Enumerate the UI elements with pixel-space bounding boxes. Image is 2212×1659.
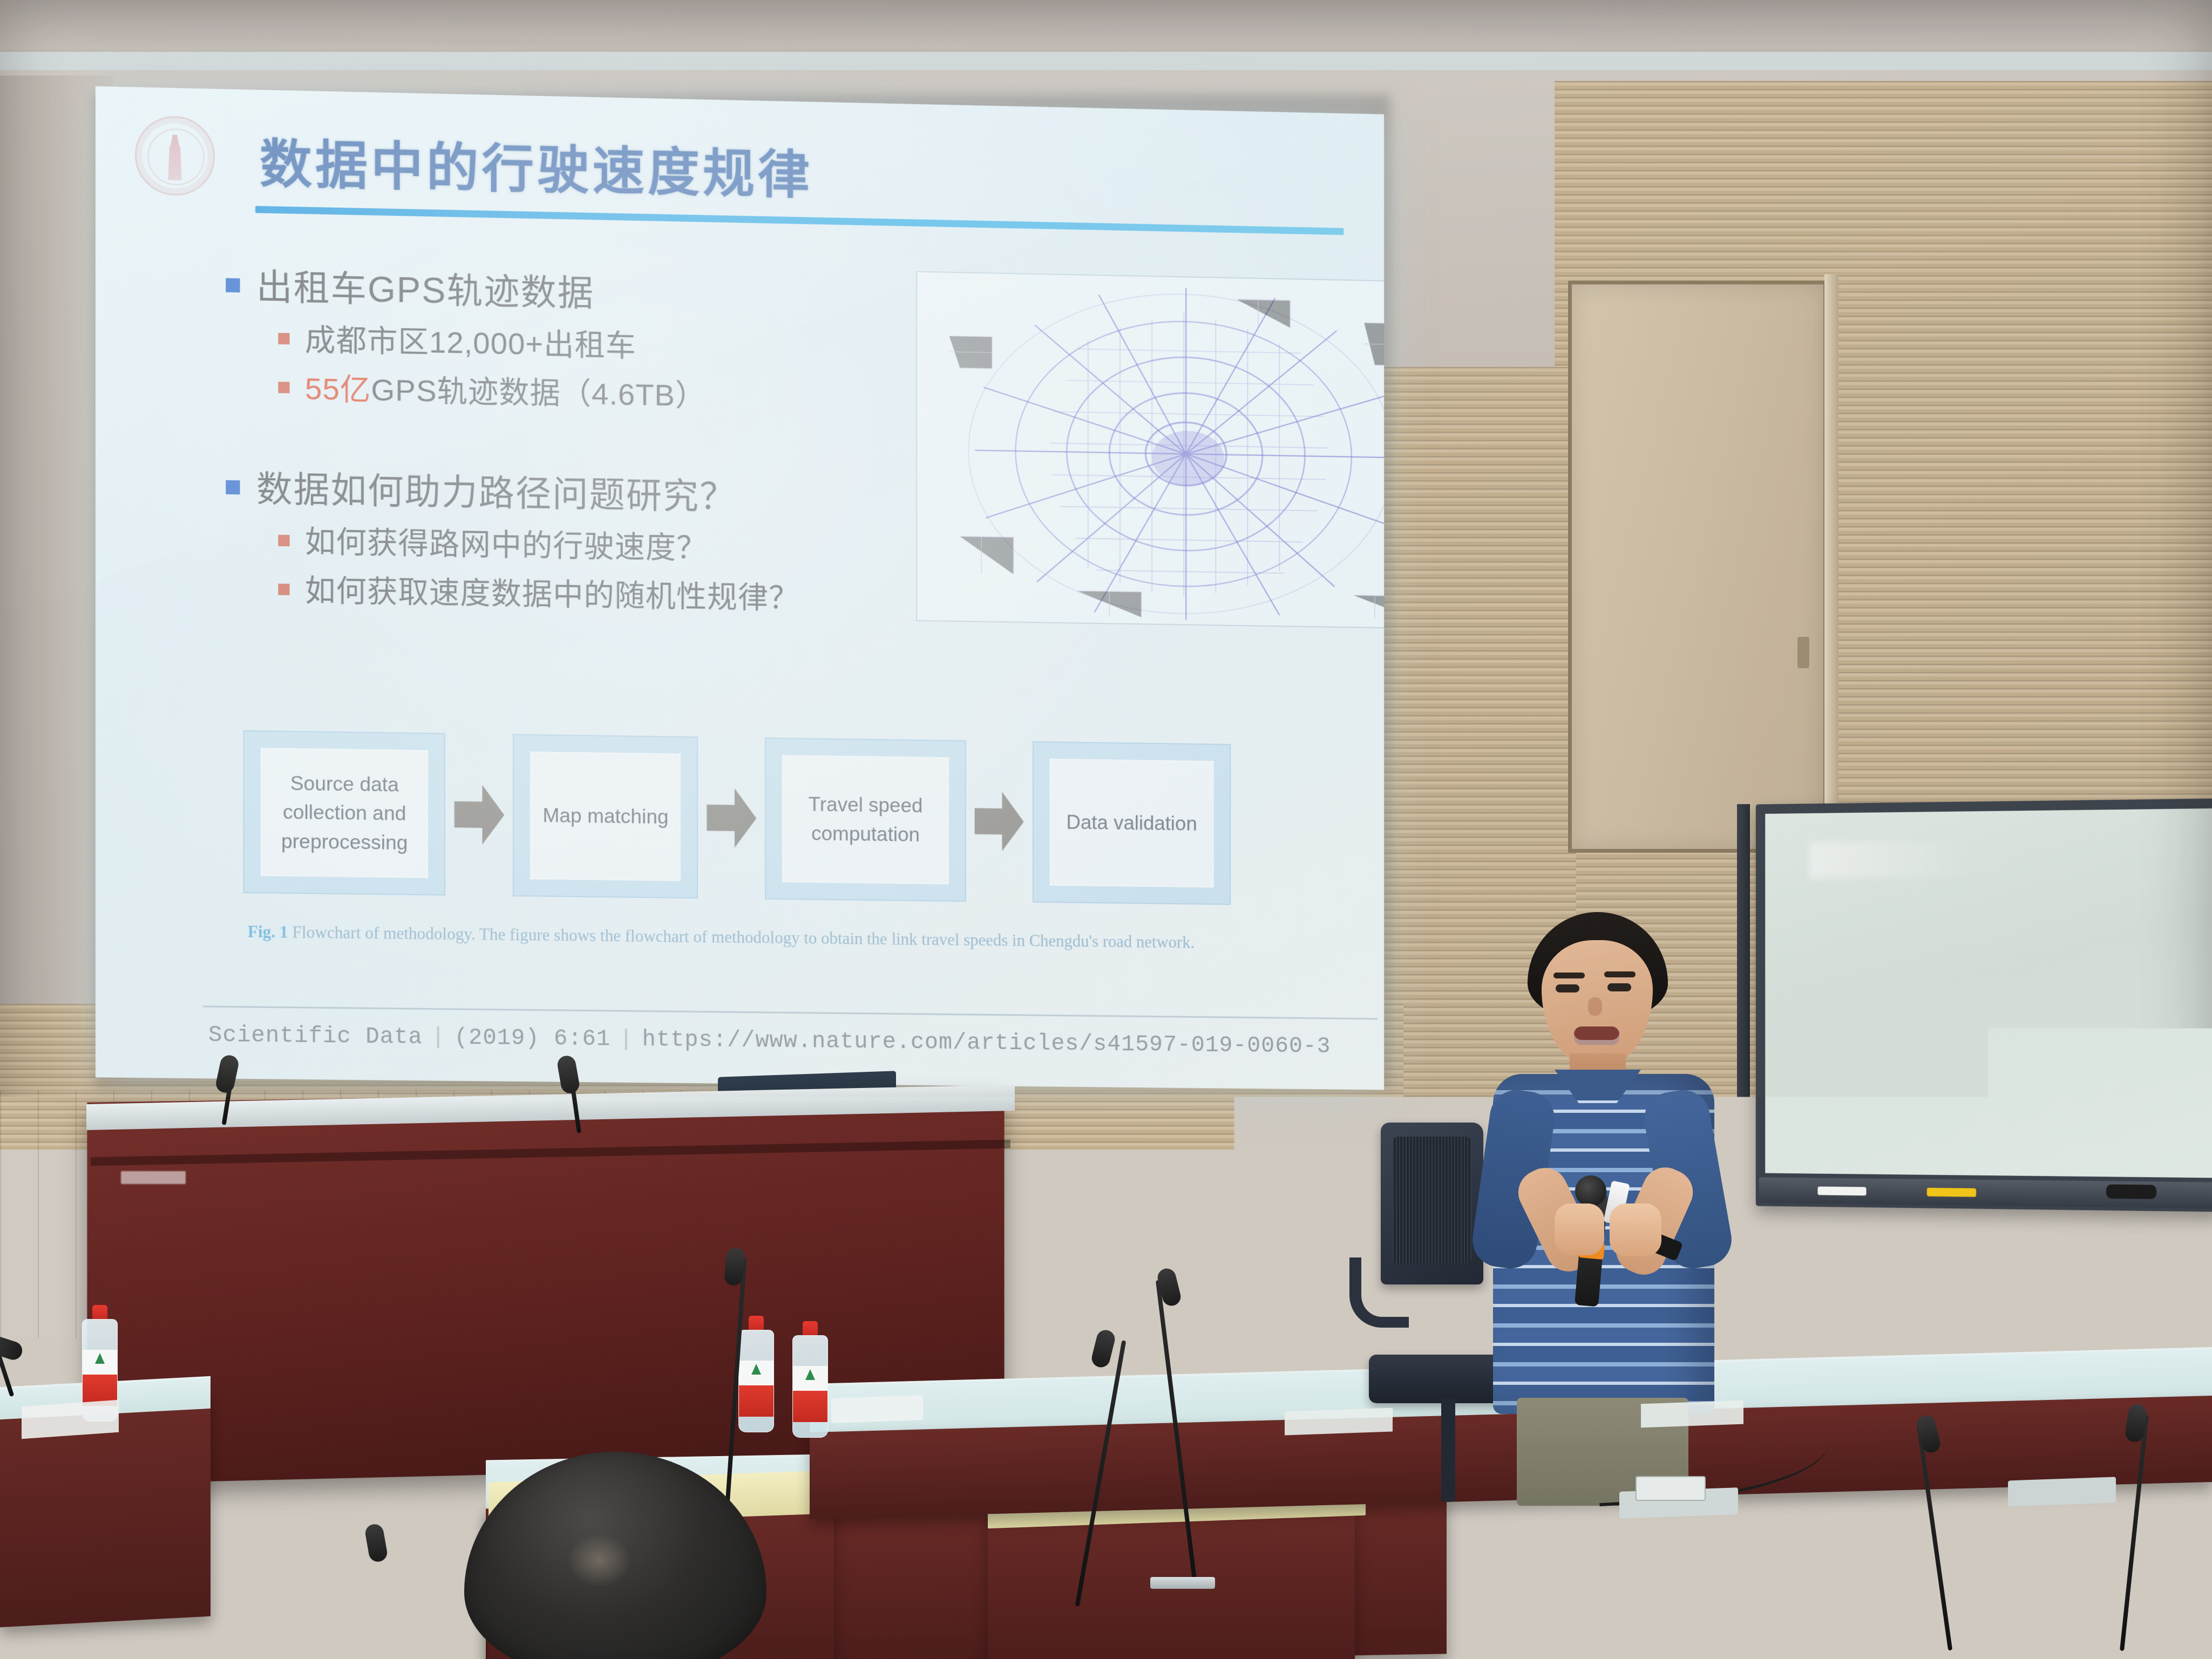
chair-base-post [1441, 1399, 1455, 1501]
bullet-level2: 成都市区12,000+出租车 [278, 319, 951, 371]
chair-armrest [1349, 1257, 1409, 1328]
citation-volume: (2019) 6:61 [454, 1024, 611, 1052]
bottle-cap [803, 1321, 818, 1335]
lectern-brand-plate [121, 1171, 186, 1184]
flow-arrow-icon [974, 792, 1023, 852]
bullet-level1: 出租车GPS轨迹数据 [226, 264, 952, 323]
chengdu-road-network-map [916, 271, 1384, 629]
bullet-marker-red [278, 332, 289, 344]
bullet-marker-blue [226, 480, 240, 495]
bullet-marker-red [278, 584, 289, 595]
flow-arrow-icon [707, 788, 756, 848]
projection-screen: 数据中的行驶速度规律 出租车GPS轨迹数据 成都市区12,000+出租车 55亿… [96, 86, 1384, 1090]
bottle-body [792, 1335, 828, 1438]
citation-separator: | [610, 1026, 642, 1052]
bottle-cap [92, 1305, 107, 1319]
flow-step-inner: Data validation [1049, 759, 1213, 888]
bullet-text: 数据如何助力路径问题研究？ [256, 467, 736, 520]
flow-step-label: Travel speed computation [783, 790, 947, 849]
eraser-icon[interactable] [2106, 1184, 2156, 1199]
figure-caption-text: Flowchart of methodology. The figure sho… [292, 922, 1195, 951]
presenter-eyebrow-left [1553, 973, 1585, 978]
bullet-highlight: 55亿 [305, 371, 371, 407]
presenter-mouth [1574, 1026, 1619, 1045]
bottle-body [738, 1330, 774, 1432]
bottle-label-red [793, 1391, 827, 1422]
control-panel[interactable] [2008, 1477, 2116, 1507]
water-bottle[interactable] [738, 1316, 774, 1432]
microphone-head-icon [1575, 1175, 1606, 1207]
bottle-label-red [739, 1385, 773, 1417]
presenter-eye-left [1556, 984, 1579, 992]
bullet-text-highlighted: 55亿GPS轨迹数据（4.6TB） [305, 369, 706, 416]
flow-step-box: Travel speed computation [765, 738, 966, 902]
university-seal-icon [135, 115, 215, 196]
title-underline [255, 206, 1344, 235]
white-marker-icon[interactable] [1817, 1186, 1866, 1195]
name-plate [1641, 1400, 1743, 1428]
control-panel[interactable] [1069, 1493, 1177, 1523]
flow-step-inner: Map matching [530, 752, 681, 881]
flow-step-inner: Source data collection and preprocessing [261, 748, 428, 878]
bullet-text: 如何获取速度数据中的随机性规律？ [305, 571, 799, 618]
figure-label: Fig. 1 [248, 922, 288, 941]
flow-arrow-icon [454, 785, 505, 845]
flow-step-label: Map matching [537, 801, 674, 832]
paper-sheet[interactable] [831, 1395, 923, 1423]
methodology-flowchart: Source data collection and preprocessing… [243, 719, 1231, 916]
flow-step-inner: Travel speed computation [782, 755, 948, 885]
hair-highlight [567, 1533, 632, 1587]
whiteboard-surface[interactable] [1765, 808, 2212, 1178]
presenter-eye-right [1607, 983, 1631, 991]
citation-line: Scientific Data|(2019) 6:61|https://www.… [208, 1019, 1384, 1064]
bullet-level1: 数据如何助力路径问题研究？ [226, 466, 952, 523]
bullet-marker-red [278, 534, 289, 546]
bullet-text: 出租车GPS轨迹数据 [256, 264, 594, 316]
slide-title: 数据中的行驶速度规律 [260, 121, 813, 208]
chair-mesh-panel [1393, 1137, 1471, 1264]
figure-caption: Fig. 1 Flowchart of methodology. The fig… [248, 919, 1219, 955]
bullet-level2: 如何获取速度数据中的随机性规律？ [278, 571, 951, 621]
citation-url[interactable]: https://www.nature.com/articles/s41597-0… [642, 1026, 1331, 1059]
bottle-cap [749, 1316, 764, 1330]
bottle-leaf-logo-icon [805, 1369, 815, 1380]
whiteboard[interactable] [1756, 798, 2212, 1212]
flow-step-label: Data validation [1061, 808, 1202, 839]
presenter-nose [1588, 997, 1602, 1016]
bullet-text: 成都市区12,000+出租车 [305, 320, 636, 366]
conference-desk [2030, 1495, 2212, 1657]
conference-desk [1511, 1500, 1878, 1657]
flow-step-box: Data validation [1033, 741, 1231, 905]
road-network-svg [917, 272, 1384, 628]
flow-step-label: Source data collection and preprocessing [262, 768, 427, 858]
citation-divider [203, 1005, 1378, 1019]
lecture-room-photo: 数据中的行驶速度规律 出租车GPS轨迹数据 成都市区12,000+出租车 55亿… [0, 0, 2212, 1659]
presenter-hand-right [1610, 1204, 1661, 1256]
presenter-hand-left [1555, 1204, 1604, 1255]
door-frame [1824, 274, 1838, 857]
flow-step-box: Map matching [513, 734, 698, 899]
yellow-marker-icon[interactable] [1927, 1188, 1976, 1197]
bullet-text: 如何获得路网中的行驶速度？ [305, 522, 707, 568]
whiteboard-glare [1809, 840, 1979, 878]
bottle-leaf-logo-icon [751, 1364, 761, 1375]
bullet-text-rest: GPS轨迹数据（4.6TB） [371, 373, 706, 413]
flow-step-box: Source data collection and preprocessing [243, 730, 446, 895]
room-door[interactable] [1568, 281, 1827, 853]
whiteboard-marker-tray [1759, 1177, 2212, 1208]
paper-sheet[interactable] [22, 1400, 119, 1439]
bullet-marker-blue [226, 278, 240, 293]
bottle-leaf-logo-icon [95, 1353, 105, 1364]
desk-device[interactable] [1636, 1476, 1706, 1501]
water-bottle[interactable] [792, 1321, 828, 1438]
bullet-marker-red [278, 382, 289, 394]
citation-separator: | [423, 1024, 454, 1051]
name-plate [1285, 1408, 1393, 1436]
slide-bullet-list: 出租车GPS轨迹数据 成都市区12,000+出租车 55亿GPS轨迹数据（4.6… [226, 252, 952, 621]
bullet-level2: 如何获得路网中的行驶速度？ [278, 521, 951, 572]
door-handle[interactable] [1797, 637, 1809, 668]
journal-name: Scientific Data [208, 1022, 423, 1050]
presenter-eyebrow-right [1604, 971, 1636, 977]
